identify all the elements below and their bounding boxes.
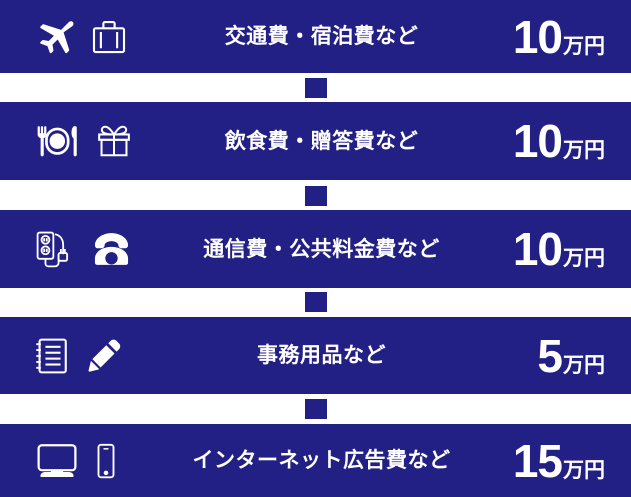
row-icons <box>0 16 175 58</box>
amount-number: 10 <box>513 14 562 60</box>
row-icons <box>0 227 175 271</box>
expense-row-utilities[interactable]: 通信費・公共料金費など 10 万円 <box>0 210 631 288</box>
amount-unit: 万円 <box>563 140 605 161</box>
row-connector <box>305 186 327 206</box>
expense-label: 事務用品など <box>257 345 386 366</box>
expense-category-list: 交通費・宿泊費など 10 万円 <box>0 0 631 497</box>
amount-number: 10 <box>513 118 562 164</box>
row-amount-cell: 15 万円 <box>476 438 631 484</box>
row-label-cell: 通信費・公共料金費など <box>175 239 476 260</box>
amount-unit: 万円 <box>563 248 605 269</box>
gift-box-icon <box>95 121 133 161</box>
row-amount-cell: 10 万円 <box>476 118 631 164</box>
row-label-cell: インターネット広告費など <box>175 450 476 471</box>
amount-number: 15 <box>513 438 562 484</box>
row-amount-cell: 10 万円 <box>476 226 631 272</box>
row-connector <box>305 292 327 312</box>
airplane-icon <box>33 16 75 58</box>
expense-row-internet-ads[interactable]: インターネット広告費など 15 万円 <box>0 424 631 497</box>
row-amount-cell: 5 万円 <box>476 333 631 379</box>
expense-label: 飲食費・贈答費など <box>225 131 419 152</box>
amount-unit: 万円 <box>563 460 605 481</box>
expense-row-office-supplies[interactable]: 事務用品など 5 万円 <box>0 317 631 394</box>
pencil-icon <box>85 336 123 376</box>
expense-label: 交通費・宿泊費など <box>225 26 419 47</box>
row-icons <box>0 121 175 161</box>
notebook-icon <box>33 335 71 377</box>
row-label-cell: 事務用品など <box>175 345 476 366</box>
expense-row-dining[interactable]: 飲食費・贈答費など 10 万円 <box>0 102 631 180</box>
monitor-icon <box>33 440 81 482</box>
row-label-cell: 飲食費・贈答費など <box>175 131 476 152</box>
power-outlet-plug-icon <box>33 227 75 271</box>
expense-label: インターネット広告費など <box>193 450 451 471</box>
expense-row-transport[interactable]: 交通費・宿泊費など 10 万円 <box>0 0 631 73</box>
row-icons <box>0 440 175 482</box>
row-icons <box>0 335 175 377</box>
row-amount-cell: 10 万円 <box>476 14 631 60</box>
row-connector <box>305 78 327 98</box>
row-connector <box>305 399 327 419</box>
amount-unit: 万円 <box>563 355 605 376</box>
smartphone-icon <box>95 441 117 481</box>
expense-label: 通信費・公共料金費など <box>203 239 440 260</box>
cutlery-plate-icon <box>33 121 81 161</box>
amount-number: 5 <box>537 333 562 379</box>
amount-unit: 万円 <box>563 36 605 57</box>
row-label-cell: 交通費・宿泊費など <box>175 26 476 47</box>
amount-number: 10 <box>513 226 562 272</box>
suitcase-icon <box>89 16 129 58</box>
telephone-icon <box>89 229 134 269</box>
